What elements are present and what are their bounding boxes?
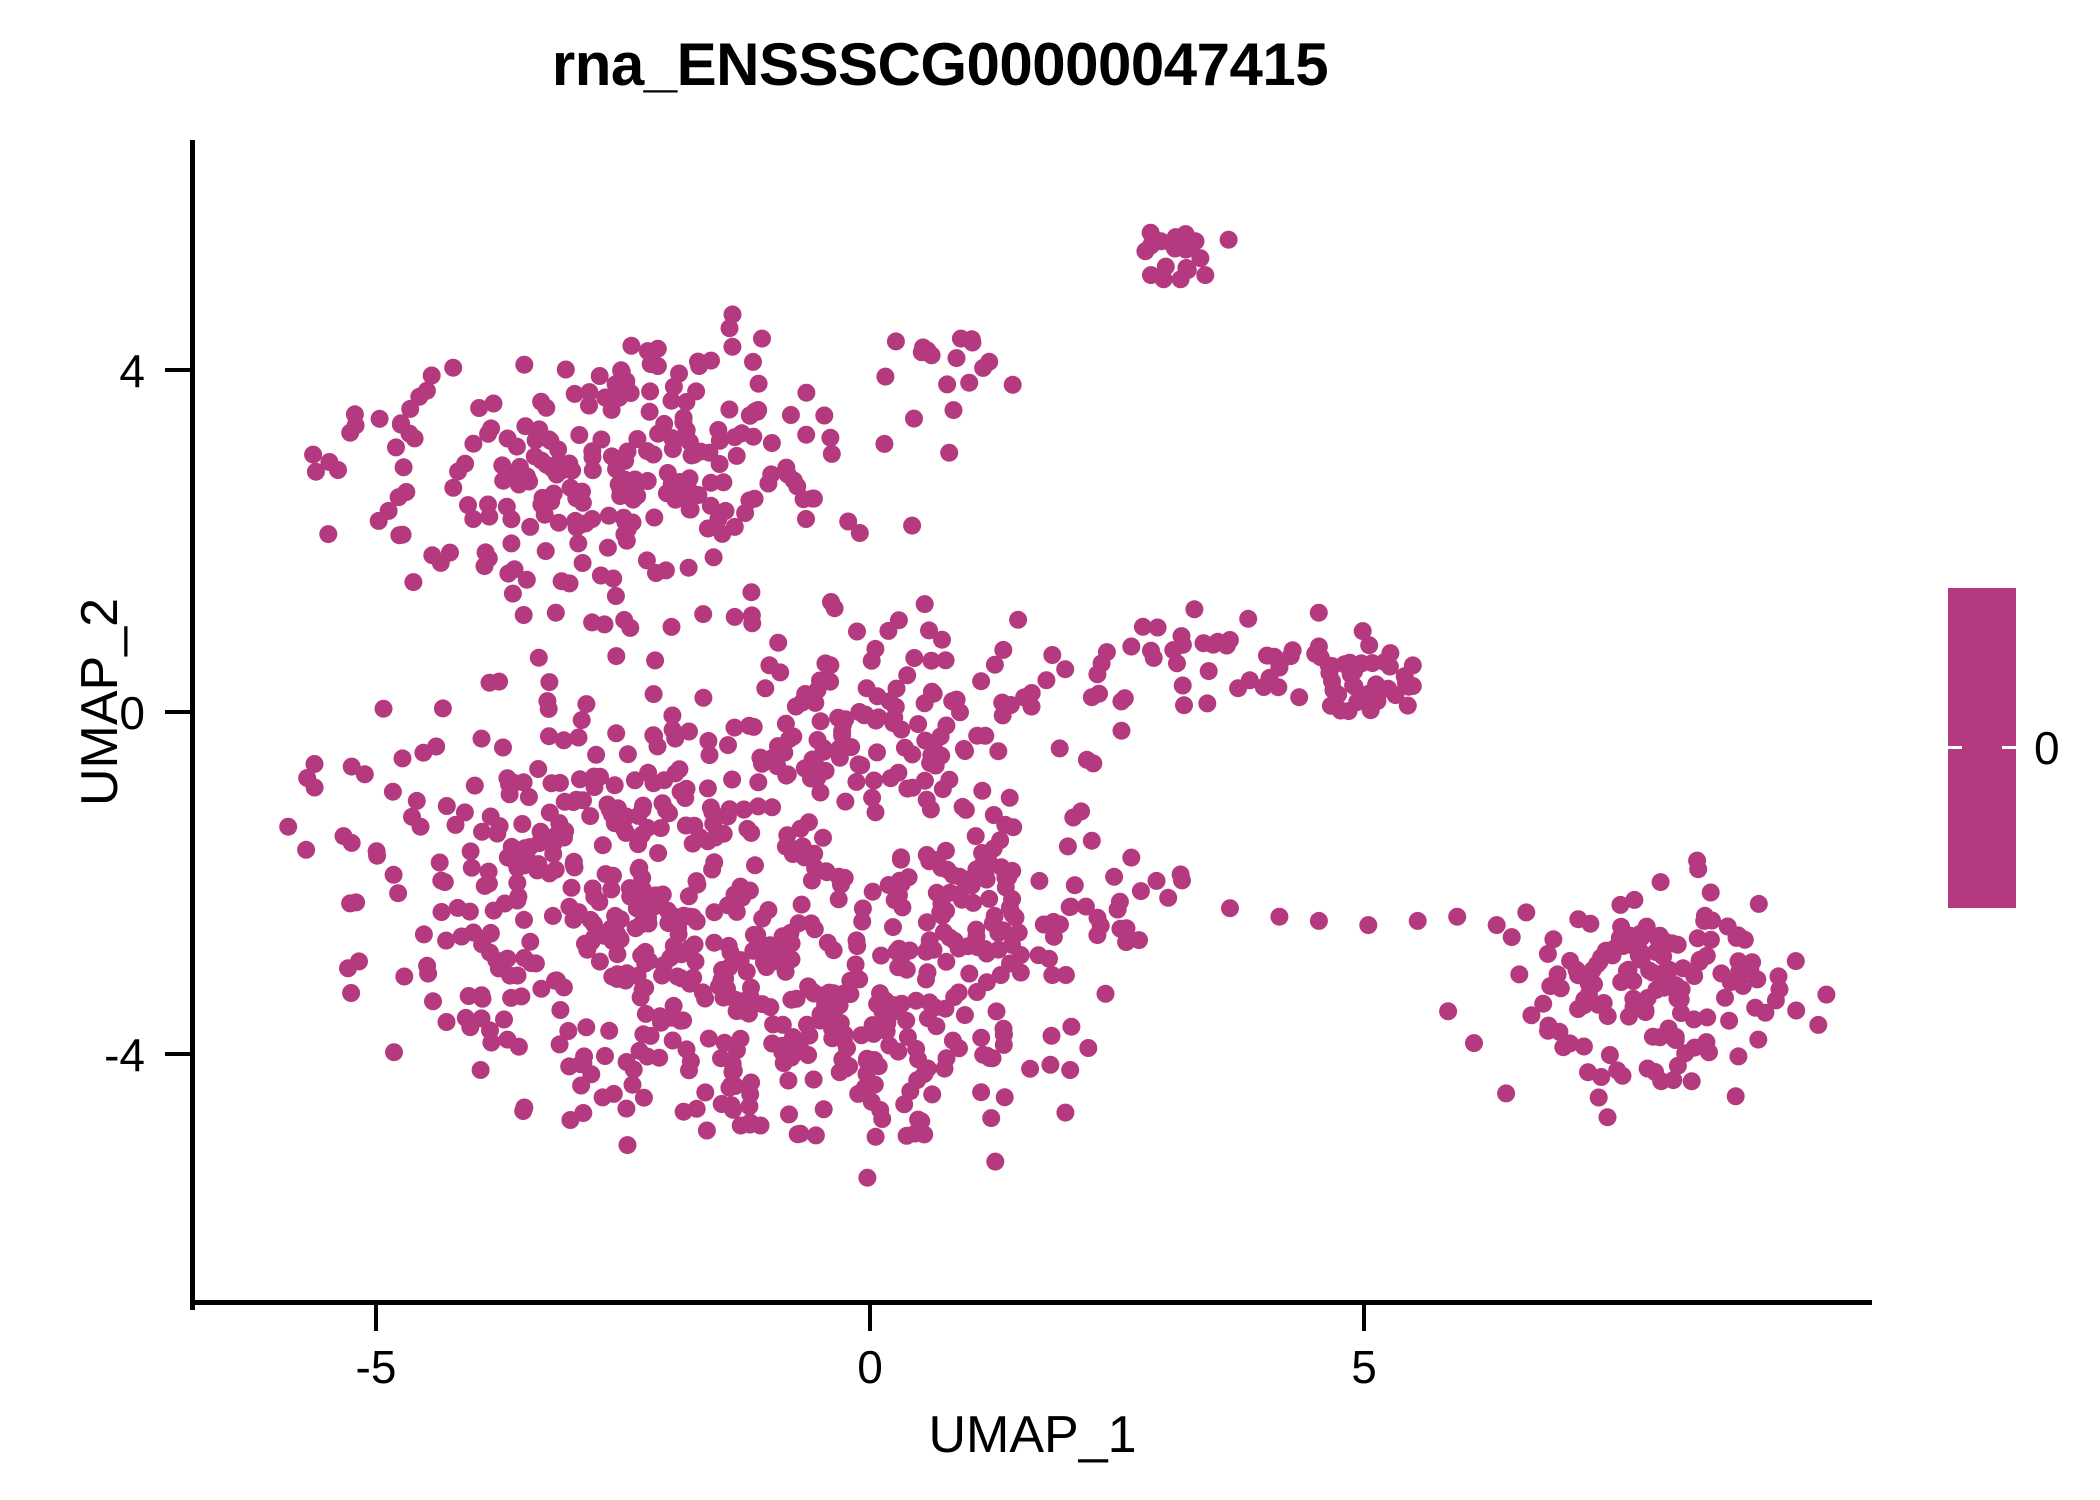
- scatter-points-layer: [193, 140, 1872, 1305]
- x-axis-ticklabel-0: 0: [857, 1340, 883, 1394]
- x-axis-tick-0: [868, 1305, 872, 1331]
- x-axis-label: UMAP_1: [193, 1405, 1872, 1465]
- x-axis-ticklabel-5: 5: [1351, 1340, 1377, 1394]
- page-title: rna_ENSSSCG00000047415: [0, 30, 1880, 99]
- colorbar-ticklabel-0: 0: [2034, 721, 2060, 775]
- umap-feature-plot: rna_ENSSSCG00000047415 4 0 -4 -5 0 5 UMA…: [0, 0, 2100, 1500]
- colorbar-legend[interactable]: 0: [1948, 588, 2016, 908]
- x-axis-ticklabel--5: -5: [356, 1340, 397, 1394]
- x-axis-line: [190, 1300, 1872, 1305]
- x-axis-tick-5: [1362, 1305, 1366, 1331]
- plot-panel: [193, 140, 1872, 1305]
- y-axis-tick-4: [165, 368, 191, 372]
- y-axis-tick--4: [165, 1052, 191, 1056]
- y-axis-line: [190, 140, 195, 1310]
- colorbar-tick-left: [1948, 746, 1962, 749]
- y-axis-label: UMAP_2: [70, 302, 130, 1102]
- colorbar-tick-right: [2002, 746, 2016, 749]
- x-axis-tick--5: [374, 1305, 378, 1331]
- y-axis-tick-0: [165, 710, 191, 714]
